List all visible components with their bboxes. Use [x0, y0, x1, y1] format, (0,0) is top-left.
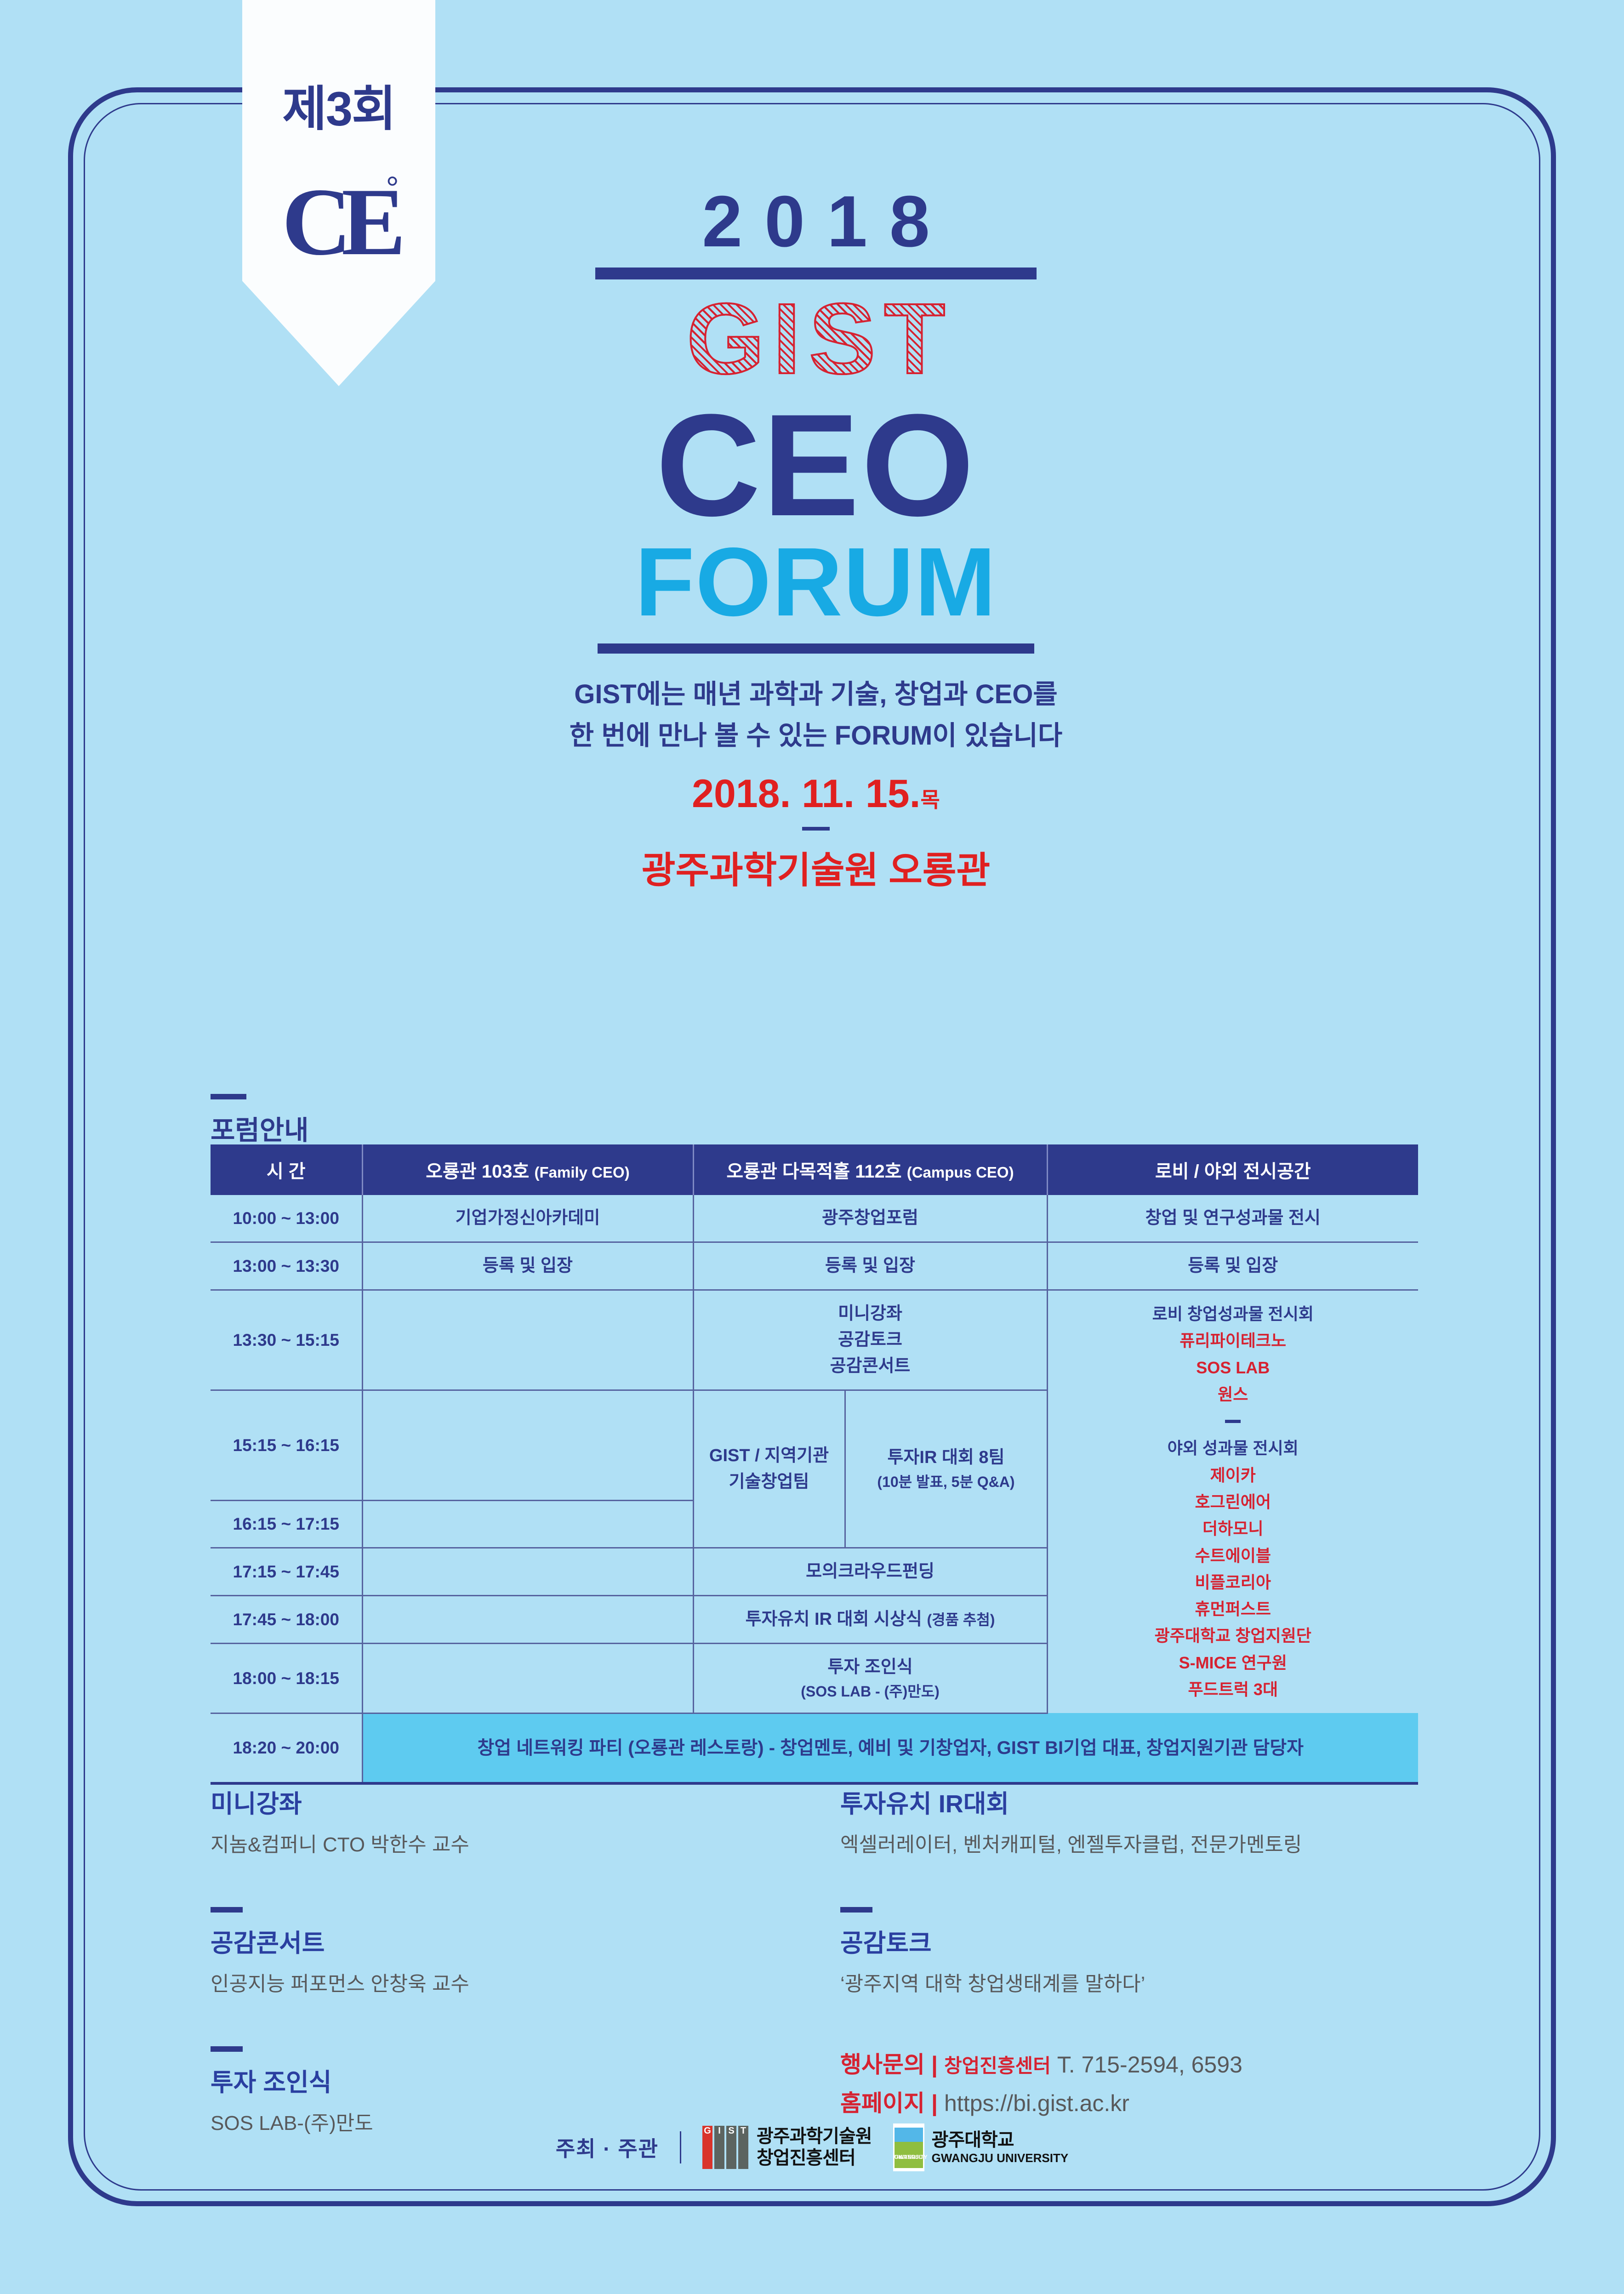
row-room-a: 등록 및 입장 [362, 1242, 693, 1290]
detail-title: 투자유치 IR대회 [840, 1783, 1415, 1820]
row-time: 18:00 ~ 18:15 [211, 1643, 362, 1713]
hero-date-value: 2018. 11. 15. [692, 772, 920, 816]
hero-date: 2018. 11. 15.목 [487, 771, 1145, 817]
edition-ribbon: 제3회 CE° [242, 0, 435, 386]
section-label: 포럼안내 [211, 1109, 308, 1147]
outdoor-company: 수트에이블 [1053, 1543, 1414, 1569]
hero-dash [802, 827, 830, 831]
outdoor-company: 푸드트럭 3대 [1053, 1676, 1414, 1703]
header-time: 시 간 [211, 1144, 362, 1195]
row-room-b2: 투자IR 대회 8팀 (10분 발표, 5분 Q&A) [845, 1390, 1047, 1548]
detail-rule [211, 2046, 243, 2052]
session-note: (경품 추첨) [927, 1611, 995, 1628]
detail-block-concert: 공감콘서트 인공지능 퍼포먼스 안창욱 교수 [211, 1907, 785, 1997]
row-time: 17:15 ~ 17:45 [211, 1548, 362, 1595]
hero-forum: FORUM [487, 533, 1145, 631]
poster-root: 제3회 CE° 2018 GIST CEO FORUM GIST에는 매년 과학… [0, 0, 1624, 2294]
row-room-a-empty [362, 1548, 693, 1595]
row-room-b: 모의크라우드펀딩 [693, 1548, 1047, 1595]
homepage-divider: | [925, 2090, 944, 2116]
row-lobby: 등록 및 입장 [1047, 1242, 1418, 1290]
detail-body: 지놈&컴퍼니 CTO 박한수 교수 [211, 1828, 785, 1857]
gist-mark-g: G [702, 2126, 712, 2169]
networking-time: 18:20 ~ 20:00 [211, 1713, 362, 1783]
gist-mark-i: I [714, 2126, 724, 2169]
detail-title: 공감토크 [840, 1923, 1415, 1959]
lobby-company: 원스 [1053, 1381, 1414, 1408]
detail-block-mini-lecture: 미니강좌 지놈&컴퍼니 CTO 박한수 교수 [211, 1783, 785, 1857]
contact-org: 창업진흥센터 [944, 2055, 1051, 2077]
row-time: 13:00 ~ 13:30 [211, 1242, 362, 1290]
header-room-112-label: 오룡관 다목적홀 112호 [726, 1161, 901, 1182]
gwangju-mark-text: GWANGJU UNIVERSITY [895, 2159, 923, 2165]
gwangju-university-logo: GWANGJU UNIVERSITY 광주대학교 GWANGJU UNIVERS… [893, 2123, 1069, 2171]
footer-logos: 주최 · 주관 G I S T 광주과학기술원 창업진흥센터 GWANGJU U… [0, 2123, 1624, 2171]
outdoor-heading: 야외 성과물 전시회 [1053, 1435, 1414, 1462]
outdoor-company: 휴먼퍼스트 [1053, 1596, 1414, 1622]
row-time: 17:45 ~ 18:00 [211, 1595, 362, 1643]
contact-phone-value: T. 715-2594, 6593 [1057, 2052, 1242, 2078]
detail-body: ‘광주지역 대학 창업생태계를 말하다’ [840, 1967, 1415, 1997]
row-time: 13:30 ~ 15:15 [211, 1290, 362, 1390]
session-line: GIST / 지역기관 [699, 1443, 840, 1469]
detail-title: 공감콘서트 [211, 1923, 785, 1959]
header-room-112: 오룡관 다목적홀 112호 (Campus CEO) [693, 1144, 1047, 1195]
row-room-a: 기업가정신아카데미 [362, 1195, 693, 1242]
detail-block-signing: 투자 조인식 SOS LAB-(주)만도 [211, 2046, 785, 2136]
outdoor-company: 더하모니 [1053, 1515, 1414, 1542]
outdoor-company: 제이카 [1053, 1462, 1414, 1489]
homepage-url[interactable]: https://bi.gist.ac.kr [944, 2090, 1129, 2116]
table-row: 13:30 ~ 15:15 미니강좌 공감토크 공감콘서트 로비 창업성과물 전… [211, 1290, 1418, 1390]
host-label: 주최 · 주관 [556, 2132, 659, 2163]
session-main: 투자유치 IR 대회 시상식 [746, 1610, 922, 1629]
row-room-b: 투자 조인식 (SOS LAB - (주)만도) [693, 1643, 1047, 1713]
row-room-a-empty [362, 1501, 693, 1548]
contact-phone-line: 행사문의|창업진흥센터 T. 715-2594, 6593 [840, 2046, 1415, 2079]
row-time: 16:15 ~ 17:15 [211, 1501, 362, 1548]
gwangju-logo-en: GWANGJU UNIVERSITY [932, 2151, 1069, 2165]
detail-body: 인공지능 퍼포먼스 안창욱 교수 [211, 1967, 785, 1997]
session-note: (10분 발표, 5분 Q&A) [850, 1471, 1042, 1493]
lobby-exhibit-cell: 로비 창업성과물 전시회 퓨리파이테크노 SOS LAB 원스 야외 성과물 전… [1047, 1290, 1418, 1713]
gist-logo: G I S T 광주과학기술원 창업진흥센터 [702, 2126, 872, 2169]
session-line: 공감콘서트 [699, 1353, 1042, 1379]
homepage-line[interactable]: 홈페이지|https://bi.gist.ac.kr [840, 2085, 1415, 2118]
hero-venue: 광주과학기술원 오룡관 [487, 841, 1145, 894]
hero-ceo: CEO [487, 394, 1145, 536]
homepage-label: 홈페이지 [840, 2090, 925, 2116]
header-lobby: 로비 / 야외 전시공간 [1047, 1144, 1418, 1195]
gwangju-logo-words: 광주대학교 GWANGJU UNIVERSITY [932, 2129, 1069, 2165]
detail-block-talk: 공감토크 ‘광주지역 대학 창업생태계를 말하다’ [840, 1907, 1415, 1997]
row-lobby: 창업 및 연구성과물 전시 [1047, 1195, 1418, 1242]
row-room-b: 투자유치 IR 대회 시상식 (경품 추첨) [693, 1595, 1047, 1643]
session-line: 기술창업팀 [699, 1469, 840, 1495]
gist-mark-icon: G I S T [702, 2126, 748, 2169]
gwangju-mark-icon: GWANGJU UNIVERSITY [893, 2123, 924, 2171]
row-room-b: 등록 및 입장 [693, 1242, 1047, 1290]
detail-body: 엑셀러레이터, 벤처캐피털, 엔젤투자클럽, 전문가멘토링 [840, 1828, 1415, 1857]
session-note: (SOS LAB - (주)만도) [699, 1680, 1042, 1702]
gwangju-mark-line2: UNIVERSITY [895, 2154, 923, 2161]
row-room-a-empty [362, 1595, 693, 1643]
header-room-103-label: 오룡관 103호 [426, 1161, 529, 1182]
row-room-a-empty [362, 1290, 693, 1390]
contact-label: 행사문의 [840, 2052, 925, 2078]
gist-mark-s: S [726, 2126, 736, 2169]
gist-logo-line1: 광주과학기술원 [757, 2126, 872, 2147]
row-room-b: 미니강좌 공감토크 공감콘서트 [693, 1290, 1047, 1390]
row-room-b1: GIST / 지역기관 기술창업팀 [693, 1390, 845, 1548]
contact-block: 행사문의|창업진흥센터 T. 715-2594, 6593 홈페이지|https… [840, 2046, 1415, 2118]
contact-divider: | [925, 2052, 944, 2078]
lobby-separator [1225, 1420, 1241, 1423]
detail-rule [840, 1907, 872, 1913]
session-line: 투자IR 대회 8팀 [850, 1445, 1042, 1471]
row-room-a-empty [362, 1643, 693, 1713]
hero-rule-bottom [598, 643, 1034, 654]
gist-logo-line2: 창업진흥센터 [757, 2147, 872, 2169]
header-room-112-sub: (Campus CEO) [907, 1164, 1014, 1181]
ce-monogram-logo: CE° [282, 174, 396, 270]
hero-gist: GIST [487, 287, 1145, 392]
row-room-a-empty [362, 1390, 693, 1501]
footer-divider [680, 2131, 681, 2163]
row-time: 10:00 ~ 13:00 [211, 1195, 362, 1242]
outdoor-company: 광주대학교 창업지원단 [1053, 1622, 1414, 1649]
outdoor-company: S-MICE 연구원 [1053, 1650, 1414, 1676]
degree-icon: ° [386, 172, 398, 202]
edition-label: 제3회 [242, 70, 435, 140]
gist-logo-words: 광주과학기술원 창업진흥센터 [757, 2126, 872, 2169]
networking-row: 18:20 ~ 20:00 창업 네트워킹 파티 (오룡관 레스토랑) - 창업… [211, 1713, 1418, 1783]
header-room-103: 오룡관 103호 (Family CEO) [362, 1144, 693, 1195]
outdoor-company: 호그린에어 [1053, 1489, 1414, 1515]
table-row: 13:00 ~ 13:30 등록 및 입장 등록 및 입장 등록 및 입장 [211, 1242, 1418, 1290]
lobby-company: 퓨리파이테크노 [1053, 1327, 1414, 1354]
lobby-company: SOS LAB [1053, 1355, 1414, 1381]
session-line: 투자 조인식 [699, 1654, 1042, 1680]
session-line: 미니강좌 [699, 1301, 1042, 1327]
table-row: 10:00 ~ 13:00 기업가정신아카데미 광주창업포럼 창업 및 연구성과… [211, 1195, 1418, 1242]
detail-rule [211, 1907, 243, 1913]
header-room-103-sub: (Family CEO) [534, 1164, 629, 1181]
row-room-b: 광주창업포럼 [693, 1195, 1047, 1242]
hero-day-of-week: 목 [921, 788, 940, 812]
section-label-rule [211, 1094, 246, 1099]
hero-rule-top [595, 268, 1037, 279]
hero-tagline: GIST에는 매년 과학과 기술, 창업과 CEO를 한 번에 만나 볼 수 있… [487, 674, 1145, 757]
ce-monogram-letters: CE [282, 169, 396, 275]
hero-tagline-line2: 한 번에 만나 볼 수 있는 FORUM이 있습니다 [487, 715, 1145, 757]
session-line: 공감토크 [699, 1327, 1042, 1353]
row-time: 15:15 ~ 16:15 [211, 1390, 362, 1501]
detail-title: 미니강좌 [211, 1783, 785, 1820]
hero-year: 2018 [487, 184, 1145, 260]
gwangju-logo-kr: 광주대학교 [932, 2129, 1069, 2151]
outdoor-company: 비플코리아 [1053, 1569, 1414, 1596]
hero-block: 2018 GIST CEO FORUM GIST에는 매년 과학과 기술, 창업… [487, 184, 1145, 894]
networking-text: 창업 네트워킹 파티 (오룡관 레스토랑) - 창업멘토, 예비 및 기창업자,… [362, 1713, 1418, 1783]
detail-block-ir-contest: 투자유치 IR대회 엑셀러레이터, 벤처캐피털, 엔젤투자클럽, 전문가멘토링 [840, 1783, 1415, 1857]
hero-tagline-line1: GIST에는 매년 과학과 기술, 창업과 CEO를 [487, 674, 1145, 715]
schedule-header-row: 시 간 오룡관 103호 (Family CEO) 오룡관 다목적홀 112호 … [211, 1144, 1418, 1195]
schedule-table: 시 간 오룡관 103호 (Family CEO) 오룡관 다목적홀 112호 … [211, 1144, 1418, 1785]
lobby-heading: 로비 창업성과물 전시회 [1053, 1301, 1414, 1327]
detail-title: 투자 조인식 [211, 2062, 785, 2098]
gist-mark-t: T [738, 2126, 748, 2169]
